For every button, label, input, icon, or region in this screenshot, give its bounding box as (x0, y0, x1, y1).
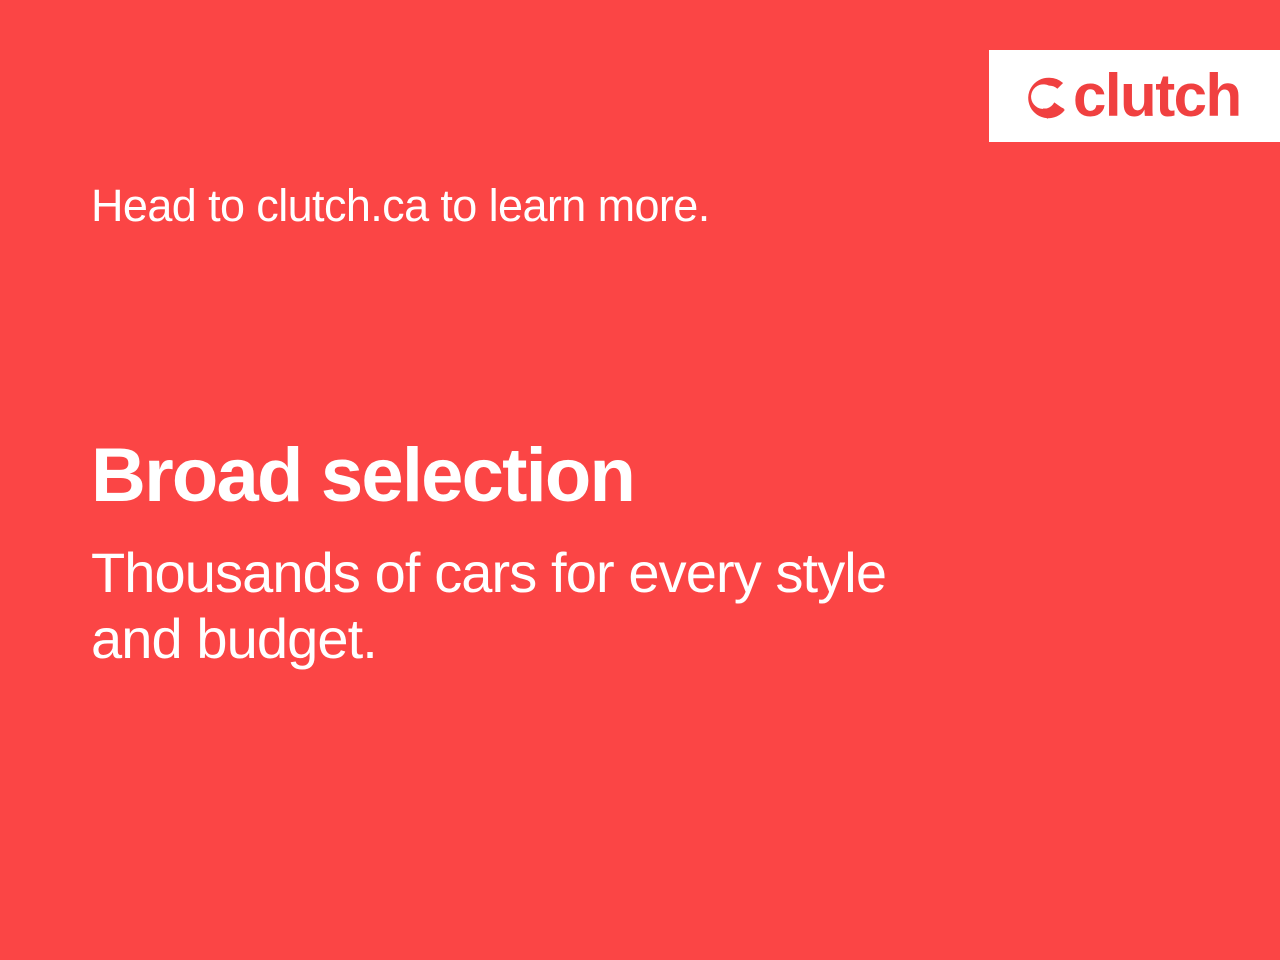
page-title: Broad selection (91, 437, 634, 515)
clutch-plate-c-icon (1027, 76, 1071, 120)
brand-lockup: clutch (1027, 66, 1241, 126)
brand-logo-plate: clutch (989, 50, 1280, 142)
subheadline-line-1: Thousands of cars for every style (91, 540, 1051, 606)
subheadline-line-2: and budget. (91, 606, 1051, 672)
subheadline: Thousands of cars for every style and bu… (91, 540, 1051, 671)
marketing-slide: clutch Head to clutch.ca to learn more. … (0, 0, 1280, 960)
eyebrow-text: Head to clutch.ca to learn more. (91, 180, 710, 232)
brand-wordmark: clutch (1073, 66, 1241, 126)
